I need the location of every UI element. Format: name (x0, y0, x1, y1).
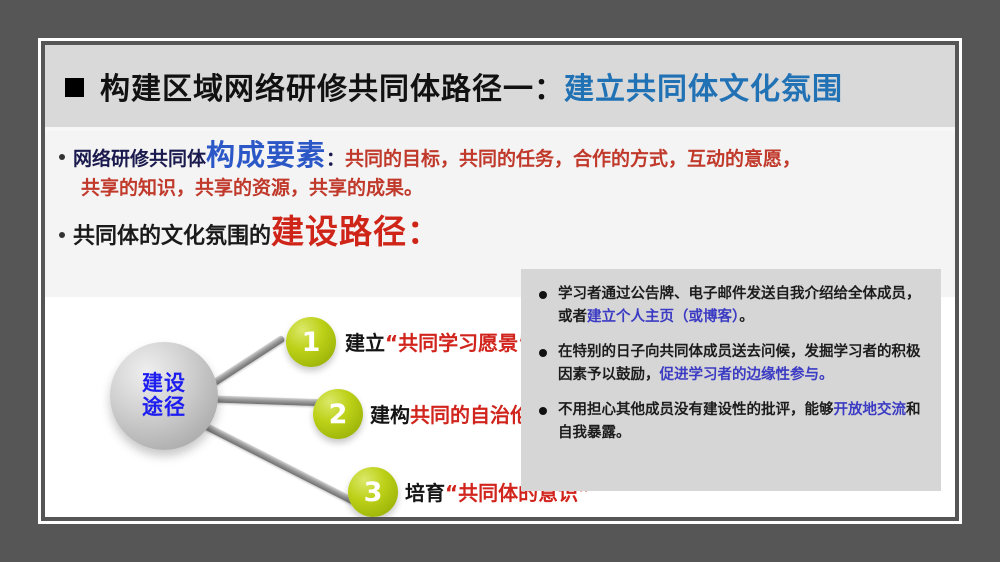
bullet-1-emphasis: 构成要素 (206, 138, 326, 172)
panel-bullet-icon (539, 291, 547, 299)
bullet-1-colon: ： (326, 148, 345, 170)
slide-title-band: 构建区域网络研修共同体路径一 ： 建立共同体文化氛围 (45, 45, 955, 127)
diagram-hub: 建设 途径 (110, 342, 218, 450)
panel-bullet-icon (539, 349, 547, 357)
panel-item-1: 学习者通过公告牌、电子邮件发送自我介绍给全体成员， 或者建立个人主页（或博客）。 (537, 283, 925, 330)
panel-bullet-icon (539, 407, 547, 415)
panel-item-1-line-1: 学习者通过公告牌、电子邮件发送自我介绍给全体成员， (558, 286, 921, 302)
panel-item-1-line-2-b: 。 (739, 309, 754, 325)
detail-panel: 学习者通过公告牌、电子邮件发送自我介绍给全体成员， 或者建立个人主页（或博客）。… (521, 269, 941, 491)
panel-item-3: 不用担心其他成员没有建设性的批评，能够开放地交流和 自我暴露。 (537, 399, 925, 446)
bullet-1-lead: 网络研修共同体 (73, 148, 206, 170)
panel-item-3-line-2: 自我暴露。 (558, 425, 631, 441)
bullet-1-line-1: 网络研修共同体构成要素：共同的目标，共同的任务，合作的方式，互动的意愿， (59, 141, 949, 170)
panel-item-2-text: 在特别的日子向共同体成员送去问候，发掘学习者的积极 因素予以鼓励，促进学习者的边… (558, 341, 921, 388)
panel-item-3-line-1-b: 和 (906, 402, 921, 418)
diagram-node-2[interactable]: 2 (313, 389, 363, 439)
diagram-node-3[interactable]: 3 (348, 467, 398, 517)
connector-hub-to-node-2 (200, 395, 330, 407)
diagram-node-1[interactable]: 1 (286, 317, 336, 367)
bullet-2-line: 共同体的文化氛围的建设路径： (59, 215, 949, 248)
node-1-number: 1 (302, 327, 321, 358)
node-2-label-black: 建构 (370, 403, 410, 427)
bullet-dot-icon (59, 154, 65, 160)
node-3-label-black: 培育 (405, 481, 445, 505)
panel-item-3-text: 不用担心其他成员没有建设性的批评，能够开放地交流和 自我暴露。 (558, 399, 921, 446)
title-main-text: 构建区域网络研修共同体路径一 (100, 64, 534, 108)
bullet-item-2: 共同体的文化氛围的建设路径： (59, 215, 949, 248)
panel-item-3-line-1-a: 不用担心其他成员没有建设性的批评，能够 (558, 402, 834, 418)
title-colon: ： (534, 64, 564, 108)
slide-content: 网络研修共同体构成要素：共同的目标，共同的任务，合作的方式，互动的意愿， 共享的… (45, 127, 955, 517)
panel-item-1-text: 学习者通过公告牌、电子邮件发送自我介绍给全体成员， 或者建立个人主页（或博客）。 (558, 283, 921, 330)
bullet-1-body-line-1: 共同的目标，共同的任务，合作的方式，互动的意愿， (345, 148, 801, 170)
panel-item-2-line-2-a: 因素予以鼓励， (558, 367, 660, 383)
bullet-dot-icon (59, 232, 65, 238)
panel-item-1-line-2-a: 或者 (558, 309, 587, 325)
node-2-number: 2 (329, 399, 348, 430)
panel-item-1-highlight: 建立个人主页（或博客） (587, 309, 739, 325)
panel-item-2-line-1: 在特别的日子向共同体成员送去问候，发掘学习者的积极 (558, 344, 921, 360)
panel-item-3-highlight: 开放地交流 (834, 402, 907, 418)
title-accent-text: 建立共同体文化氛围 (564, 64, 843, 108)
node-1-label-red: “共同学习愿景” (385, 331, 531, 355)
slide-title: 构建区域网络研修共同体路径一 ： 建立共同体文化氛围 (45, 64, 843, 108)
bullet-1-body-line-2: 共享的知识，共享的资源，共享的成果。 (81, 177, 423, 199)
presentation-slide: 构建区域网络研修共同体路径一 ： 建立共同体文化氛围 网络研修共同体构成要素：共… (45, 45, 955, 517)
bullet-1-line-2: 共享的知识，共享的资源，共享的成果。 (81, 179, 949, 198)
hub-label-line-2: 途径 (142, 396, 186, 420)
node-3-number: 3 (364, 477, 383, 508)
hub-label-line-1: 建设 (142, 372, 186, 396)
square-bullet-icon (65, 78, 84, 97)
panel-item-2: 在特别的日子向共同体成员送去问候，发掘学习者的积极 因素予以鼓励，促进学习者的边… (537, 341, 925, 388)
panel-item-2-highlight: 促进学习者的边缘性参与。 (660, 367, 834, 383)
node-1-label-black: 建立 (345, 331, 385, 355)
bullet-2-lead: 共同体的文化氛围的 (73, 224, 271, 249)
screenshot-stage: 构建区域网络研修共同体路径一 ： 建立共同体文化氛围 网络研修共同体构成要素：共… (0, 0, 1000, 562)
bullet-2-emphasis: 建设路径： (271, 212, 441, 251)
diagram-node-1-label: 建立“共同学习愿景” (345, 327, 531, 356)
bullet-item-1: 网络研修共同体构成要素：共同的目标，共同的任务，合作的方式，互动的意愿， 共享的… (59, 141, 949, 198)
